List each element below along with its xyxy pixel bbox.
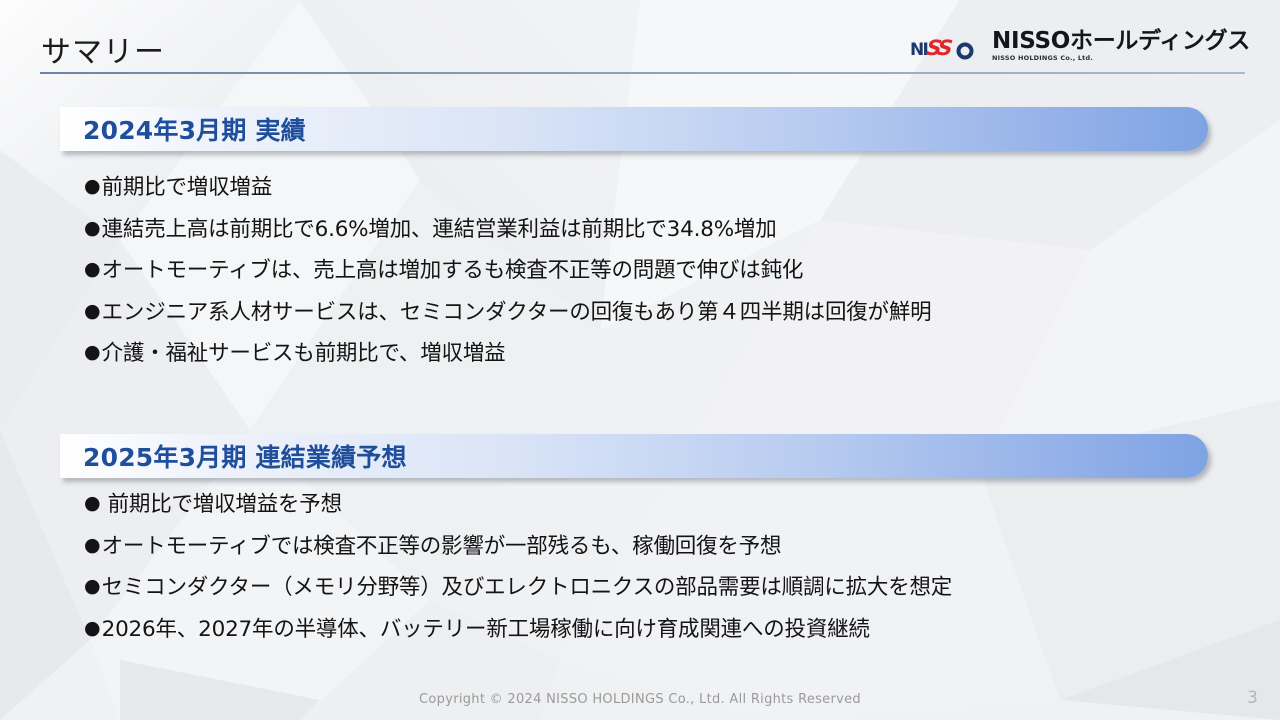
company-logo: N I S S NISSOホールディングス NISSO HOLDINGS Co.… (909, 30, 1250, 62)
section-band-label: 2025年3月期 連結業績予想 (83, 438, 407, 474)
section-band-fy2024: 2024年3月期 実績 (60, 107, 1208, 151)
list-item: ● 前期比で増収増益を予想 (84, 494, 1264, 516)
bullet-marker-icon: ● (84, 219, 101, 239)
list-item: ● セミコンダクター（メモリ分野等）及びエレクトロニクスの部品需要は順調に拡大を… (84, 577, 1264, 599)
bullet-text: セミコンダクター（メモリ分野等）及びエレクトロニクスの部品需要は順調に拡大を想定 (102, 577, 953, 599)
page-number: 3 (1247, 688, 1258, 708)
bullet-text: 前期比で増収増益 (102, 177, 272, 199)
bullet-text: 介護・福祉サービスも前期比で、増収増益 (102, 343, 506, 365)
bullet-text: 前期比で増収増益を予想 (108, 494, 342, 516)
bullet-marker-icon: ● (84, 260, 101, 280)
list-item: ● エンジニア系人材サービスは、セミコンダクターの回復もあり第４四半期は回復が鮮… (84, 302, 1264, 324)
bullet-list-fy2024: ● 前期比で増収増益 ● 連結売上高は前期比で6.6%増加、連結営業利益は前期比… (84, 177, 1264, 385)
list-item: ● 連結売上高は前期比で6.6%増加、連結営業利益は前期比で34.8%増加 (84, 219, 1264, 241)
svg-text:S: S (936, 35, 954, 60)
list-item: ● オートモーティブは、売上高は増加するも検査不正等の問題で伸びは鈍化 (84, 260, 1264, 282)
list-item: ● 2026年、2027年の半導体、バッテリー新工場稼働に向け育成関連への投資継… (84, 619, 1264, 641)
copyright-notice: Copyright © 2024 NISSO HOLDINGS Co., Ltd… (0, 692, 1280, 707)
slide-canvas: サマリー N I S S NISSOホールディングス NISSO HOLDING… (0, 0, 1280, 720)
logo-subtitle: NISSO HOLDINGS Co., Ltd. (992, 55, 1093, 62)
slide-header: サマリー N I S S NISSOホールディングス NISSO HOLDING… (0, 0, 1280, 78)
bullet-marker-icon: ● (84, 302, 101, 322)
bullet-marker-icon: ● (84, 536, 101, 556)
svg-text:N: N (910, 40, 924, 60)
header-divider (40, 72, 1245, 74)
page-title: サマリー (41, 27, 165, 71)
bullet-marker-icon: ● (84, 619, 101, 639)
list-item: ● オートモーティブでは検査不正等の影響が一部残るも、稼働回復を予想 (84, 536, 1264, 558)
logo-wordmark: NISSOホールディングス (992, 30, 1250, 53)
nisso-logo-icon: N I S S (909, 32, 983, 62)
bullet-marker-icon: ● (84, 494, 101, 514)
bullet-list-fy2025: ● 前期比で増収増益を予想 ● オートモーティブでは検査不正等の影響が一部残るも… (84, 494, 1264, 660)
section-band-fy2025: 2025年3月期 連結業績予想 (60, 434, 1208, 478)
bullet-text: オートモーティブは、売上高は増加するも検査不正等の問題で伸びは鈍化 (102, 260, 804, 282)
bullet-marker-icon: ● (84, 343, 101, 363)
list-item: ● 介護・福祉サービスも前期比で、増収増益 (84, 343, 1264, 365)
list-item: ● 前期比で増収増益 (84, 177, 1264, 199)
bullet-text: 2026年、2027年の半導体、バッテリー新工場稼働に向け育成関連への投資継続 (102, 619, 870, 641)
bullet-text: 連結売上高は前期比で6.6%増加、連結営業利益は前期比で34.8%増加 (102, 219, 777, 241)
bullet-text: エンジニア系人材サービスは、セミコンダクターの回復もあり第４四半期は回復が鮮明 (102, 302, 932, 324)
bullet-marker-icon: ● (84, 177, 101, 197)
section-band-label: 2024年3月期 実績 (83, 111, 306, 147)
bullet-marker-icon: ● (84, 577, 101, 597)
bullet-text: オートモーティブでは検査不正等の影響が一部残るも、稼働回復を予想 (102, 536, 782, 558)
